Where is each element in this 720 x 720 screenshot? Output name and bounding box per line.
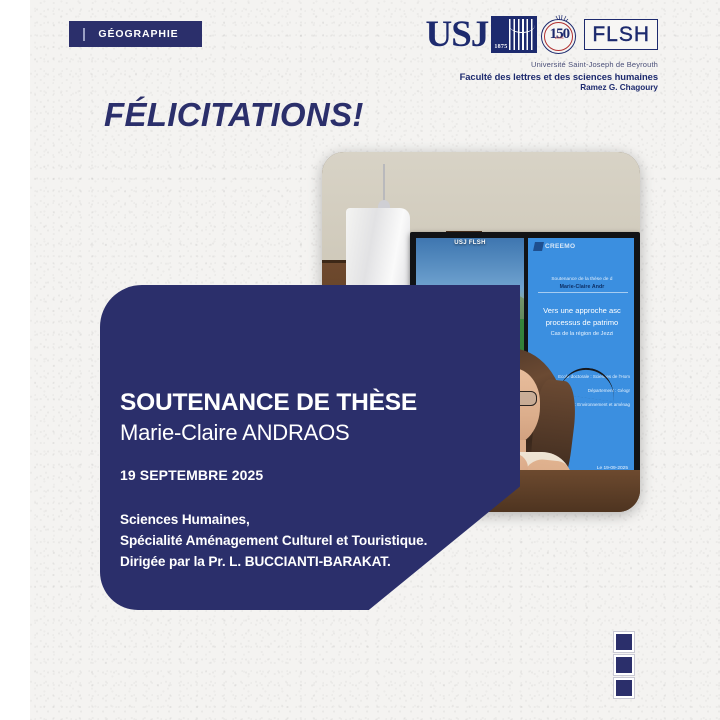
creemo-mark-icon: [533, 242, 544, 251]
slide-logo-header: USJ FLSH: [416, 240, 524, 246]
creemo-label: CREEMO: [545, 243, 575, 250]
card-desc-line-1: Sciences Humaines,: [120, 509, 427, 530]
logo-faculty-line: Faculté des lettres et des sciences huma…: [426, 71, 659, 82]
creemo-logo: CREEMO: [534, 242, 575, 251]
slide-subtitle: Cas de la région de Jezzi: [532, 331, 632, 337]
page-title: FÉLICITATIONS!: [104, 96, 364, 134]
left-margin-strip: [0, 0, 30, 720]
slide-soutenance-line: Soutenance de la thèse de d: [534, 276, 630, 281]
seal-ans-label: ANS: [539, 35, 579, 40]
flsh-box: FLSH: [584, 19, 658, 50]
logo-donor-line: Ramez G. Chagoury: [426, 83, 659, 92]
flsh-wordmark: FLSH: [592, 23, 650, 46]
decorative-square: [614, 655, 634, 675]
poster-canvas: USJ FLSH CREEMO Soutenance de la thèse d…: [0, 0, 720, 720]
slide-title-line1: Vers une approche asc: [532, 306, 632, 315]
photo-flag-pole: [383, 164, 385, 204]
decorative-squares: [614, 632, 634, 698]
slide-title-line2: processus de patrimo: [532, 318, 632, 327]
usj-founding-year: 1875: [494, 44, 507, 50]
card-desc-line-3: Dirigée par la Pr. L. BUCCIANTI-BARAKAT.: [120, 551, 427, 572]
decorative-square: [614, 678, 634, 698]
logo-university-line: Université Saint-Joseph de Beyrouth: [426, 60, 659, 69]
card-title: SOUTENANCE DE THÈSE: [120, 389, 417, 417]
card-date: 19 SEPTEMBRE 2025: [120, 467, 263, 483]
anniversary-seal-icon: 150 ANS: [539, 15, 579, 55]
card-description: Sciences Humaines, Spécialité Aménagemen…: [120, 509, 427, 572]
usj-flsh-logo: USJ 1875 150 A: [426, 12, 659, 92]
slide-divider: [538, 292, 628, 293]
usj-wordmark: USJ: [426, 16, 489, 53]
decorative-square: [614, 632, 634, 652]
category-badge: GÉOGRAPHIE: [69, 21, 202, 47]
usj-emblem-icon: 1875: [491, 16, 537, 53]
card-desc-line-2: Spécialité Aménagement Culturel et Touri…: [120, 530, 427, 551]
slide-candidate-name: Marie-Claire Andr: [534, 284, 630, 290]
badge-label: GÉOGRAPHIE: [85, 28, 202, 40]
card-candidate-name: Marie-Claire ANDRAOS: [120, 420, 350, 446]
thesis-info-card: SOUTENANCE DE THÈSE Marie-Claire ANDRAOS…: [100, 285, 520, 610]
